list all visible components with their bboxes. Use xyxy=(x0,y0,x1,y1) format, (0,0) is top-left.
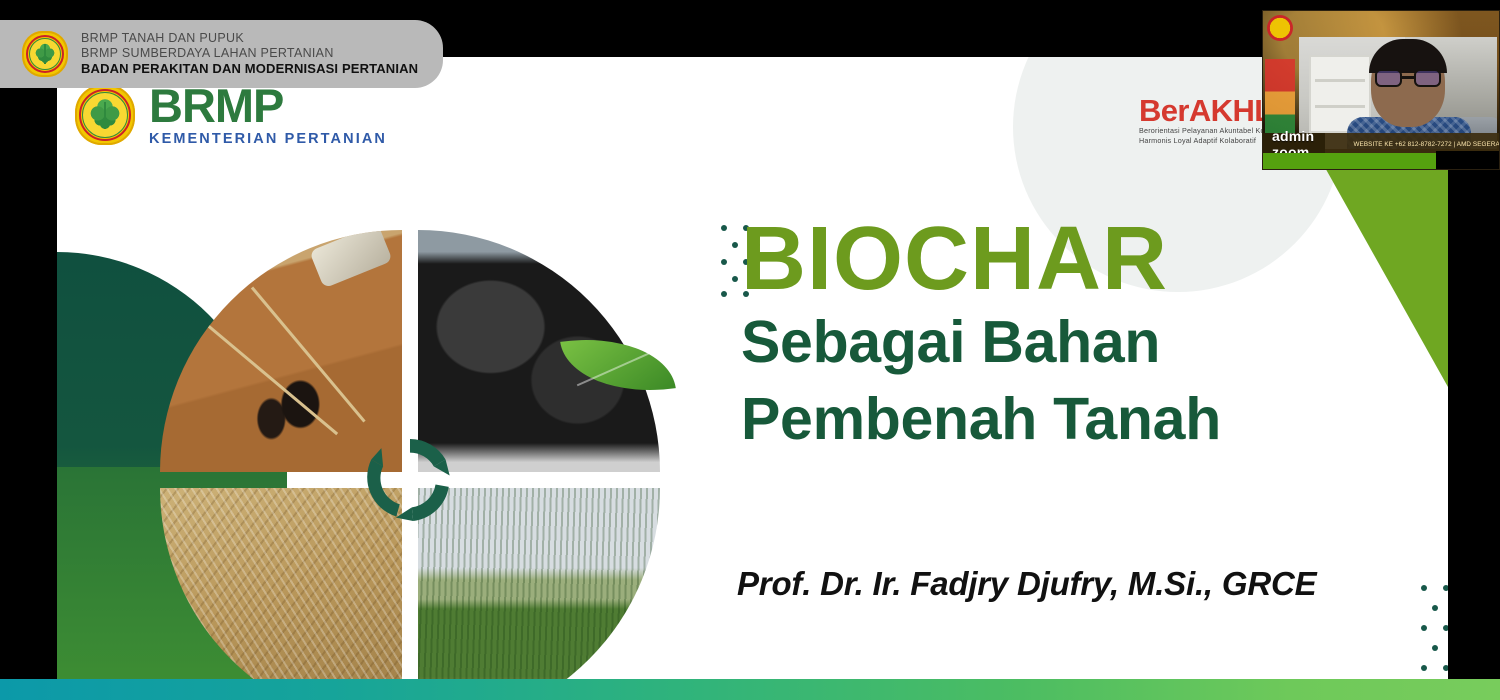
header-line-2: BRMP SUMBERDAYA LAHAN PERTANIAN xyxy=(81,46,418,61)
video-green-bar xyxy=(1263,153,1438,169)
video-seal-icon xyxy=(1267,15,1293,41)
bottom-gradient-strip xyxy=(0,679,1500,700)
video-ticker-text: WEBSITE KE +62 812-8782-7272 | AMD SEGER… xyxy=(1346,141,1500,148)
dot-pattern-bottom xyxy=(1415,585,1448,675)
presenter-name: Prof. Dr. Ir. Fadjry Djufry, M.Si., GRCE xyxy=(737,565,1316,603)
header-overlay-banner: BRMP TANAH DAN PUPUK BRMP SUMBERDAYA LAH… xyxy=(0,20,443,88)
slide-title-line3: Pembenah Tanah xyxy=(741,387,1221,452)
slide-title-line2: Sebagai Bahan xyxy=(741,310,1221,375)
zoom-video-tile[interactable]: admin zoom WEBSITE KE +62 812-8782-7272 … xyxy=(1262,10,1500,170)
kementan-seal-icon-header xyxy=(22,31,68,77)
brmp-brand-lockup: BRMP KEMENTERIAN PERTANIAN xyxy=(75,84,387,147)
glasses-icon xyxy=(1375,69,1441,87)
screen-root: BRMP KEMENTERIAN PERTANIAN BerAKHLAK Ber… xyxy=(0,0,1500,700)
header-line-3: BADAN PERAKITAN DAN MODERNISASI PERTANIA… xyxy=(81,61,418,77)
recycle-icon xyxy=(353,423,467,537)
kementan-seal-icon xyxy=(75,85,135,145)
slide-title-main: BIOCHAR xyxy=(741,214,1221,304)
brand-name: BRMP xyxy=(149,84,387,129)
video-black-box xyxy=(1436,151,1499,169)
photo-collage xyxy=(160,230,660,682)
slide-title-block: BIOCHAR Sebagai Bahan Pembenah Tanah xyxy=(741,214,1221,452)
header-line-1: BRMP TANAH DAN PUPUK xyxy=(81,31,418,46)
brand-tagline: KEMENTERIAN PERTANIAN xyxy=(149,131,387,147)
presentation-slide: BRMP KEMENTERIAN PERTANIAN BerAKHLAK Ber… xyxy=(57,57,1448,682)
letterbox-left xyxy=(0,0,57,700)
